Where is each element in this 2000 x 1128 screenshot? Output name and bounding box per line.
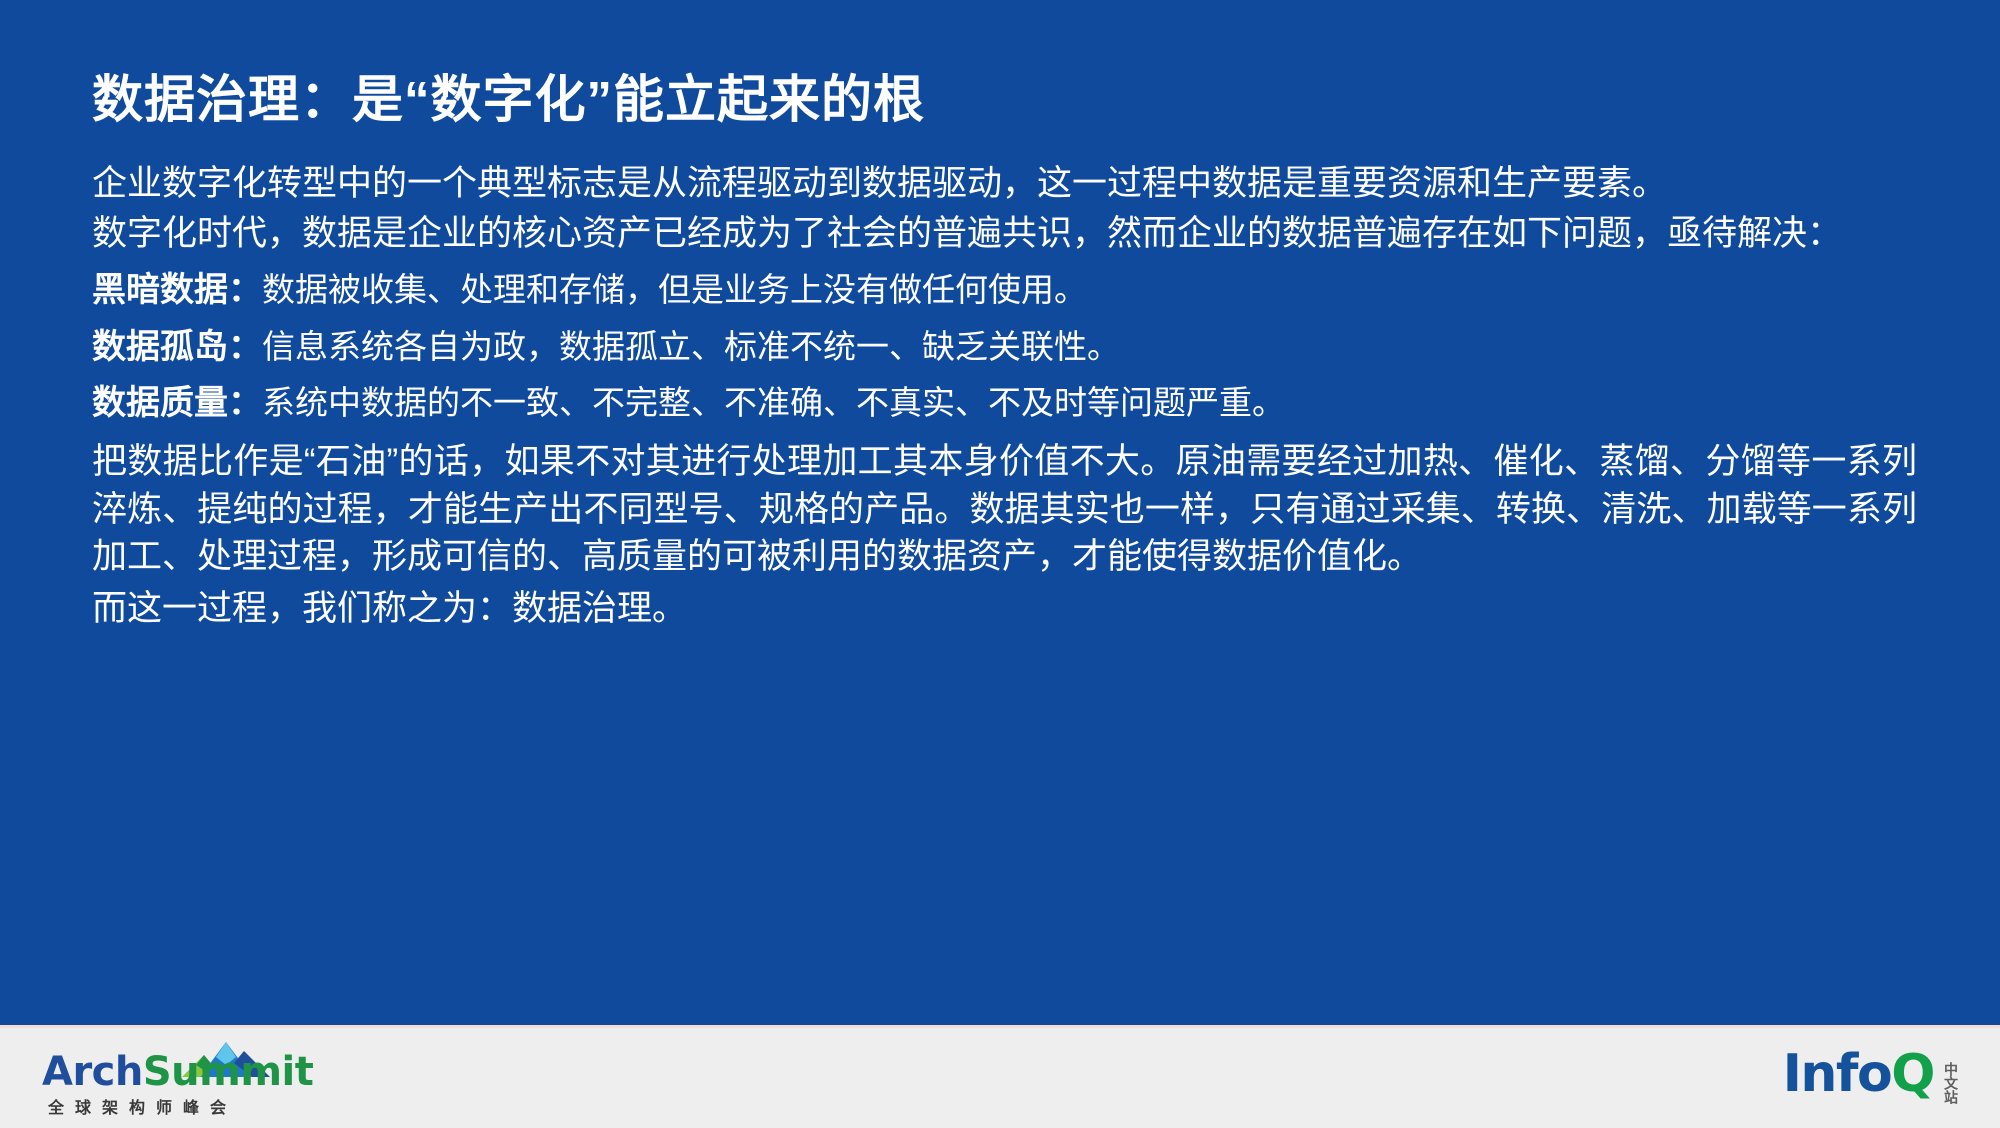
issue-label-data-quality: 数据质量：: [92, 384, 262, 422]
infoq-word-q: Q: [1891, 1044, 1934, 1104]
infoq-subtitle: 中文站: [1940, 1062, 1960, 1104]
archsummit-subtitle: 全球架构师峰会: [48, 1094, 237, 1118]
infoq-wordmark: InfoQ: [1783, 1048, 1934, 1100]
issue-label-dark-data: 黑暗数据：: [92, 271, 262, 309]
intro-paragraph-2: 数字化时代，数据是企业的核心资产已经成为了社会的普遍共识，然而企业的数据普遍存在…: [92, 210, 1917, 258]
issue-text-data-silo: 信息系统各自为政，数据孤立、标准不统一、缺乏关联性。: [262, 328, 1120, 365]
intro-paragraph-1: 企业数字化转型中的一个典型标志是从流程驱动到数据驱动，这一过程中数据是重要资源和…: [92, 160, 1917, 208]
slide-content: 数据治理：是“数字化”能立起来的根 企业数字化转型中的一个典型标志是从流程驱动到…: [92, 70, 1917, 636]
archsummit-wordmark: ArchSummit: [42, 1052, 313, 1092]
slide-footer: ArchSummit 全球架构师峰会 InfoQ 中文站: [0, 1025, 2000, 1128]
list-item: 数据孤岛：信息系统各自为政，数据孤立、标准不统一、缺乏关联性。: [92, 325, 1917, 371]
slide-body: 数据治理：是“数字化”能立起来的根 企业数字化转型中的一个典型标志是从流程驱动到…: [0, 0, 2000, 1025]
closing-paragraph-1: 把数据比作是“石油”的话，如果不对其进行处理加工其本身价值不大。原油需要经过加热…: [92, 438, 1917, 581]
presentation-slide: 数据治理：是“数字化”能立起来的根 企业数字化转型中的一个典型标志是从流程驱动到…: [0, 0, 2000, 1125]
archsummit-logo: ArchSummit 全球架构师峰会: [42, 1042, 282, 1116]
page-title: 数据治理：是“数字化”能立起来的根: [92, 70, 1917, 130]
closing-paragraph-2: 而这一过程，我们称之为：数据治理。: [92, 585, 1917, 633]
infoq-logo: InfoQ 中文站: [1738, 1048, 1968, 1110]
archsummit-word-summit: Summit: [143, 1049, 313, 1095]
issue-text-data-quality: 系统中数据的不一致、不完整、不准确、不真实、不及时等问题严重。: [262, 384, 1285, 421]
infoq-word-info: Info: [1783, 1044, 1892, 1104]
list-item: 黑暗数据：数据被收集、处理和存储，但是业务上没有做任何使用。: [92, 268, 1917, 314]
archsummit-word-arch: Arch: [42, 1049, 143, 1095]
issue-text-dark-data: 数据被收集、处理和存储，但是业务上没有做任何使用。: [262, 271, 1087, 308]
list-item: 数据质量：系统中数据的不一致、不完整、不准确、不真实、不及时等问题严重。: [92, 381, 1917, 427]
issue-label-data-silo: 数据孤岛：: [92, 328, 262, 366]
